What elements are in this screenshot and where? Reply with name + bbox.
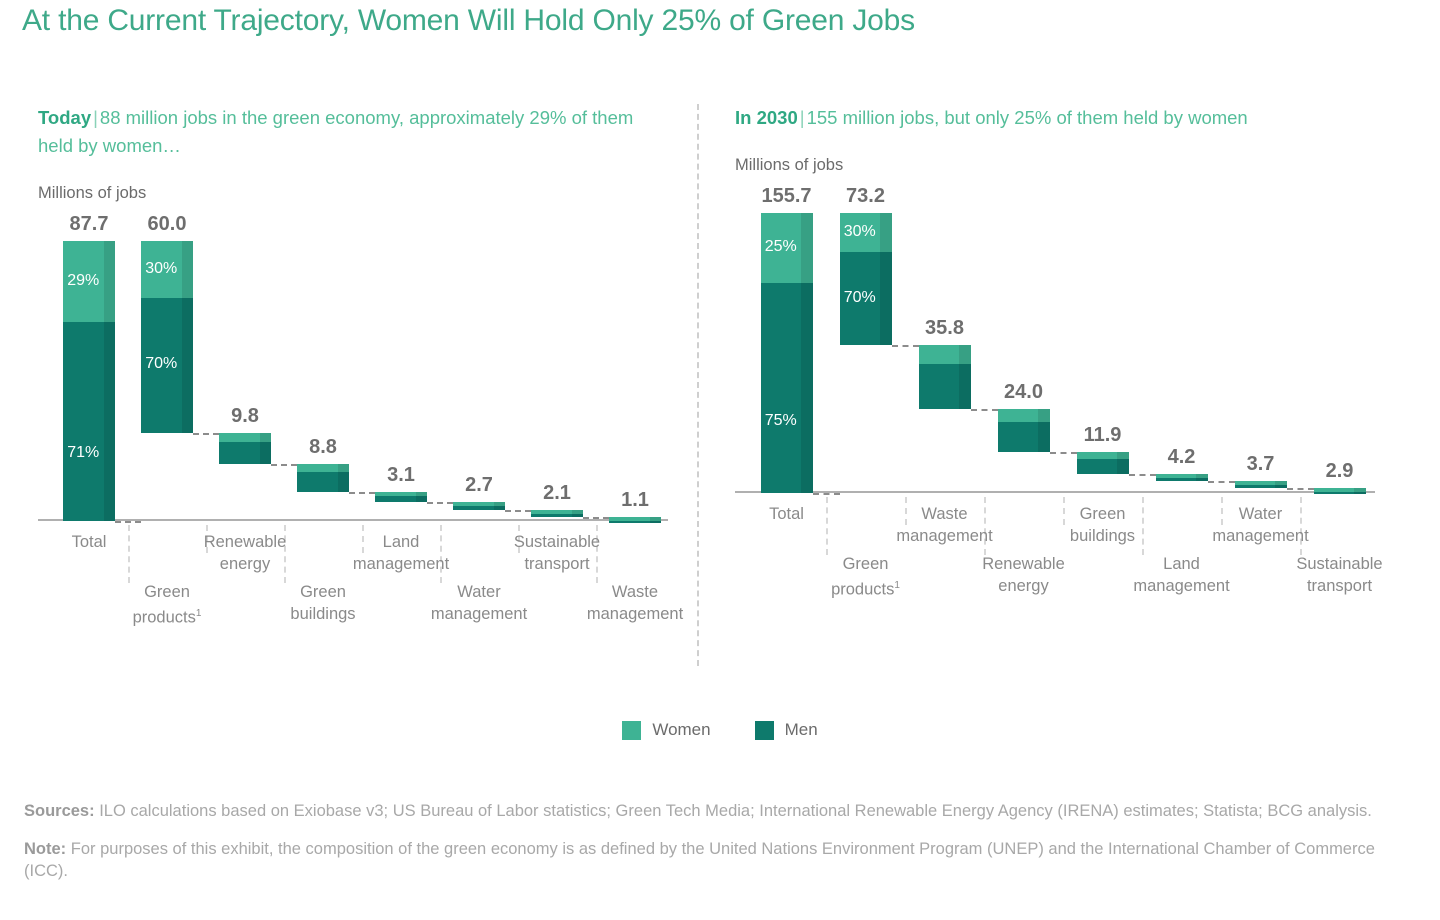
legend-label-men: Men (785, 720, 818, 740)
bar-4-men-segment (375, 496, 427, 502)
panel-today-pipe: | (91, 107, 100, 128)
bar-1-men-segment: 70% (141, 298, 193, 432)
bar-7-men-segment (1314, 492, 1366, 494)
bar-3-value-label: 24.0 (1004, 381, 1043, 404)
connector-0 (813, 493, 840, 495)
bar-1-value-label: 73.2 (846, 185, 885, 208)
square-swatch-icon-men (755, 721, 774, 740)
panel-2030-pipe: | (798, 107, 807, 128)
bar-0-women-segment: 25% (761, 213, 813, 283)
panel-2030-axis-unit: Millions of jobs (735, 156, 1435, 175)
connector-6 (583, 517, 609, 519)
connector-2 (971, 409, 998, 411)
bar-5-value-label: 4.2 (1168, 446, 1196, 469)
connector-4 (1129, 474, 1156, 476)
category-label-2: Wastemanagement (863, 503, 1027, 547)
category-label-2: Renewableenergy (163, 531, 327, 575)
bar-0-men-segment: 71% (63, 322, 115, 521)
bar-7-value-label: 1.1 (621, 489, 649, 512)
category-label-1: Greenproducts1 (85, 581, 249, 629)
bar-5-men-segment (453, 506, 505, 511)
panel-2030-subtitle: In 2030|155 million jobs, but only 25% o… (735, 104, 1355, 132)
chart-2030: 25%75%155.730%70%73.235.824.011.94.23.72… (735, 187, 1435, 505)
bar-1-men-share-label: 70% (141, 356, 182, 372)
bar-0-women-segment: 29% (63, 241, 115, 322)
category-label-0: Total (705, 503, 869, 525)
bar-2-women-segment (919, 345, 971, 364)
chart-page: { "title": "At the Current Trajectory, W… (0, 0, 1440, 920)
category-label-4: Landmanagement (319, 531, 483, 575)
legend-label-women: Women (652, 720, 710, 740)
category-label-3: Renewableenergy (942, 553, 1106, 597)
legend-item-men[interactable]: Men (755, 720, 818, 740)
footer-line-0: Sources: ILO calculations based on Exiob… (24, 800, 1414, 822)
bar-4-men-segment (1077, 459, 1129, 474)
panel-today-label: Today (38, 107, 91, 128)
connector-1 (193, 433, 219, 435)
bar-5[interactable] (1156, 474, 1208, 482)
connector-6 (1287, 488, 1314, 490)
bar-7-value-label: 2.9 (1326, 460, 1354, 483)
category-label-5: Watermanagement (397, 581, 561, 625)
bar-2-value-label: 9.8 (231, 405, 259, 428)
bar-1-value-label: 60.0 (148, 213, 187, 236)
panel-today: Today|88 million jobs in the green econo… (38, 104, 678, 533)
bar-5-value-label: 2.7 (465, 474, 493, 497)
bar-0-men-share-label: 75% (761, 413, 802, 429)
category-label-5: Landmanagement (1100, 553, 1264, 597)
category-label-6: Watermanagement (1179, 503, 1343, 547)
chart-2030-plot: 25%75%155.730%70%73.235.824.011.94.23.72… (735, 187, 1435, 505)
bar-0[interactable]: 29%71% (63, 241, 115, 521)
bar-3[interactable] (998, 409, 1050, 452)
bar-1-women-segment: 30% (840, 213, 892, 252)
connector-5 (1208, 481, 1235, 483)
bar-2-men-segment (219, 442, 271, 464)
bar-1[interactable]: 30%70% (141, 241, 193, 433)
bar-0[interactable]: 25%75% (761, 213, 813, 493)
connector-4 (427, 502, 453, 504)
category-label-4: Greenbuildings (1021, 503, 1185, 547)
page-title: At the Current Trajectory, Women Will Ho… (22, 4, 915, 38)
connector-3 (1050, 452, 1077, 454)
category-label-7: Sustainabletransport (1258, 553, 1422, 597)
bar-6[interactable] (531, 510, 583, 517)
legend-item-women[interactable]: Women (622, 720, 710, 740)
bar-6-men-segment (1235, 485, 1287, 488)
chart-today-plot: 29%71%87.730%70%60.09.88.83.12.72.11.1To… (38, 215, 678, 533)
category-label-3: Greenbuildings (241, 581, 405, 625)
bar-3-women-segment (297, 464, 349, 472)
bar-0-women-share-label: 29% (63, 273, 104, 289)
bar-0-men-segment: 75% (761, 283, 813, 493)
bar-1-men-share-label: 70% (840, 290, 881, 306)
bar-0-women-share-label: 25% (761, 239, 802, 255)
bar-2-women-segment (219, 433, 271, 442)
category-label-6: Sustainabletransport (475, 531, 639, 575)
footer-line-1: Note: For purposes of this exhibit, the … (24, 838, 1414, 882)
footer-line-0-label: Sources: (24, 802, 95, 820)
bar-3-men-segment (998, 422, 1050, 452)
bar-5-men-segment (1156, 478, 1208, 482)
bar-1[interactable]: 30%70% (840, 213, 892, 345)
bar-2[interactable] (219, 433, 271, 464)
footer-line-1-label: Note: (24, 840, 66, 858)
bar-3-men-segment (297, 472, 349, 492)
connector-5 (505, 510, 531, 512)
panel-2030-label: In 2030 (735, 107, 798, 128)
bar-1-women-share-label: 30% (840, 224, 881, 240)
bar-7[interactable] (1314, 488, 1366, 494)
bar-6-men-segment (531, 514, 583, 517)
bar-4-value-label: 3.1 (387, 464, 415, 487)
bar-2-value-label: 35.8 (925, 317, 964, 340)
connector-1 (892, 345, 919, 347)
connector-0 (115, 521, 141, 523)
panel-2030: In 2030|155 million jobs, but only 25% o… (735, 104, 1435, 505)
bar-0-value-label: 87.7 (70, 213, 109, 236)
bar-5[interactable] (453, 502, 505, 511)
bar-2-men-segment (919, 364, 971, 409)
connector-2 (271, 464, 297, 466)
bar-0-men-share-label: 71% (63, 445, 104, 461)
panel-today-subtitle: Today|88 million jobs in the green econo… (38, 104, 658, 160)
bar-6-value-label: 2.1 (543, 482, 571, 505)
panel-today-subtitle-text: 88 million jobs in the green economy, ap… (38, 107, 633, 156)
bar-6[interactable] (1235, 481, 1287, 488)
footer-line-0-text: ILO calculations based on Exiobase v3; U… (95, 802, 1372, 820)
category-label-7: Wastemanagement (553, 581, 717, 625)
category-label-1: Greenproducts1 (784, 553, 948, 601)
bar-3-women-segment (998, 409, 1050, 422)
chart-today: 29%71%87.730%70%60.09.88.83.12.72.11.1To… (38, 215, 678, 533)
panel-2030-subtitle-text: 155 million jobs, but only 25% of them h… (807, 107, 1248, 128)
square-swatch-icon-women (622, 721, 641, 740)
bar-1-women-segment: 30% (141, 241, 193, 298)
category-label-0: Total (7, 531, 171, 553)
bar-3[interactable] (297, 464, 349, 492)
bar-1-men-segment: 70% (840, 252, 892, 344)
panel-today-axis-unit: Millions of jobs (38, 184, 678, 203)
bar-7[interactable] (609, 517, 661, 523)
bar-4[interactable] (375, 492, 427, 502)
bar-4-value-label: 11.9 (1084, 424, 1122, 447)
bar-4[interactable] (1077, 452, 1129, 473)
bar-0-value-label: 155.7 (761, 185, 811, 208)
footer-notes: Sources: ILO calculations based on Exiob… (24, 800, 1414, 898)
footer-line-1-text: For purposes of this exhibit, the compos… (24, 840, 1375, 880)
bar-7-men-segment (609, 521, 661, 523)
bar-3-value-label: 8.8 (309, 436, 337, 459)
chart-legend: WomenMen (0, 720, 1440, 740)
bar-1-women-share-label: 30% (141, 261, 182, 277)
bar-2[interactable] (919, 345, 971, 409)
connector-3 (349, 492, 375, 494)
bar-6-value-label: 3.7 (1247, 453, 1275, 476)
